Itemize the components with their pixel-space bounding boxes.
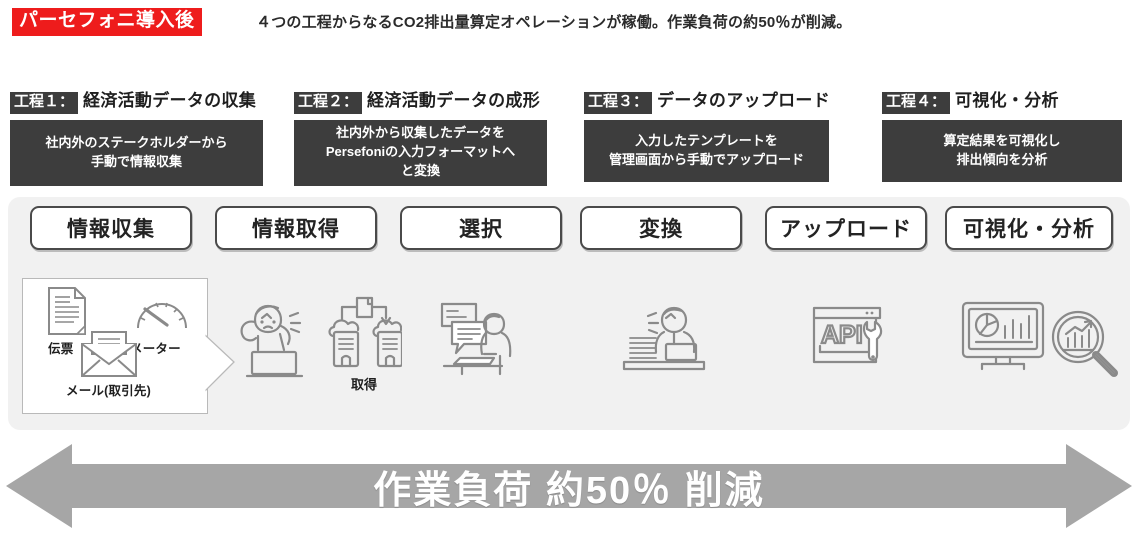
diagram-root: パーセフォニ導入後 ４つの工程からなるCO2排出量算定オペレーションが稼働。作業… bbox=[0, 0, 1138, 535]
process-3-description: 入力したテンプレートを 管理画面から手動でアップロード bbox=[584, 120, 829, 182]
process-column-1: 工程１： 経済活動データの収集 社内外のステークホルダーから 手動で情報収集 bbox=[10, 86, 272, 186]
step-pill-6[interactable]: 可視化・分析 bbox=[945, 206, 1113, 250]
process-1-heading: 工程１： 経済活動データの収集 bbox=[10, 86, 272, 114]
process-1-tag: 工程１： bbox=[10, 92, 78, 114]
process-4-description: 算定結果を可視化し 排出傾向を分析 bbox=[882, 120, 1122, 182]
process-4-tag: 工程４： bbox=[882, 92, 950, 114]
page-subtitle: ４つの工程からなるCO2排出量算定オペレーションが稼働。作業負荷の約50％が削減… bbox=[256, 11, 851, 32]
process-2-tag: 工程２： bbox=[294, 92, 362, 114]
step-pill-1[interactable]: 情報収集 bbox=[30, 206, 192, 250]
step-pill-4[interactable]: 変換 bbox=[580, 206, 742, 250]
process-column-4: 工程４： 可視化・分析 算定結果を可視化し 排出傾向を分析 bbox=[882, 86, 1130, 182]
person-paperwork-icon bbox=[622, 300, 706, 374]
process-1-title: 経済活動データの収集 bbox=[83, 86, 256, 111]
process-4-heading: 工程４： 可視化・分析 bbox=[882, 86, 1130, 114]
bubble-tail-icon bbox=[204, 334, 236, 396]
process-3-heading: 工程３： データのアップロード bbox=[584, 86, 846, 114]
process-1-description: 社内外のステークホルダーから 手動で情報収集 bbox=[10, 120, 263, 186]
process-column-3: 工程３： データのアップロード 入力したテンプレートを 管理画面から手動でアップ… bbox=[584, 86, 846, 182]
status-badge: パーセフォニ導入後 bbox=[12, 8, 202, 36]
art-label-shutoku: 取得 bbox=[340, 374, 388, 393]
data-transfer-icon bbox=[326, 296, 402, 370]
process-3-title: データのアップロード bbox=[657, 86, 830, 111]
person-desk-chat-icon bbox=[438, 300, 520, 376]
reduction-arrow-label: 作業負荷 約50％ 削減 bbox=[6, 440, 1132, 532]
step-pill-5[interactable]: アップロード bbox=[765, 206, 927, 250]
step-pill-3[interactable]: 選択 bbox=[400, 206, 562, 250]
gauge-icon bbox=[134, 290, 190, 332]
process-2-title: 経済活動データの成形 bbox=[367, 86, 540, 111]
envelope-icon bbox=[78, 330, 140, 380]
process-column-2: 工程２： 経済活動データの成形 社内外から収集したデータを Persefoniの… bbox=[294, 86, 556, 186]
reduction-arrow-banner: 作業負荷 約50％ 削減 bbox=[6, 440, 1132, 532]
process-2-heading: 工程２： 経済活動データの成形 bbox=[294, 86, 556, 114]
step-pill-2[interactable]: 情報取得 bbox=[215, 206, 377, 250]
magnifier-chart-icon bbox=[1050, 310, 1122, 380]
stressed-person-laptop-icon bbox=[234, 296, 320, 382]
data-sources-bubble-group: 伝票 メーター メ bbox=[22, 278, 232, 418]
dashboard-monitor-icon bbox=[960, 300, 1046, 372]
svg-text:API: API bbox=[821, 321, 863, 349]
bubble-label-mail: メール(取引先) bbox=[66, 380, 151, 399]
api-wrench-icon: API bbox=[810, 304, 892, 370]
document-icon bbox=[46, 286, 88, 336]
process-4-title: 可視化・分析 bbox=[955, 86, 1059, 111]
bubble-label-denpyo: 伝票 bbox=[48, 338, 73, 357]
process-3-tag: 工程３： bbox=[584, 92, 652, 114]
process-2-description: 社内外から収集したデータを Persefoniの入力フォーマットへ と変換 bbox=[294, 120, 547, 186]
